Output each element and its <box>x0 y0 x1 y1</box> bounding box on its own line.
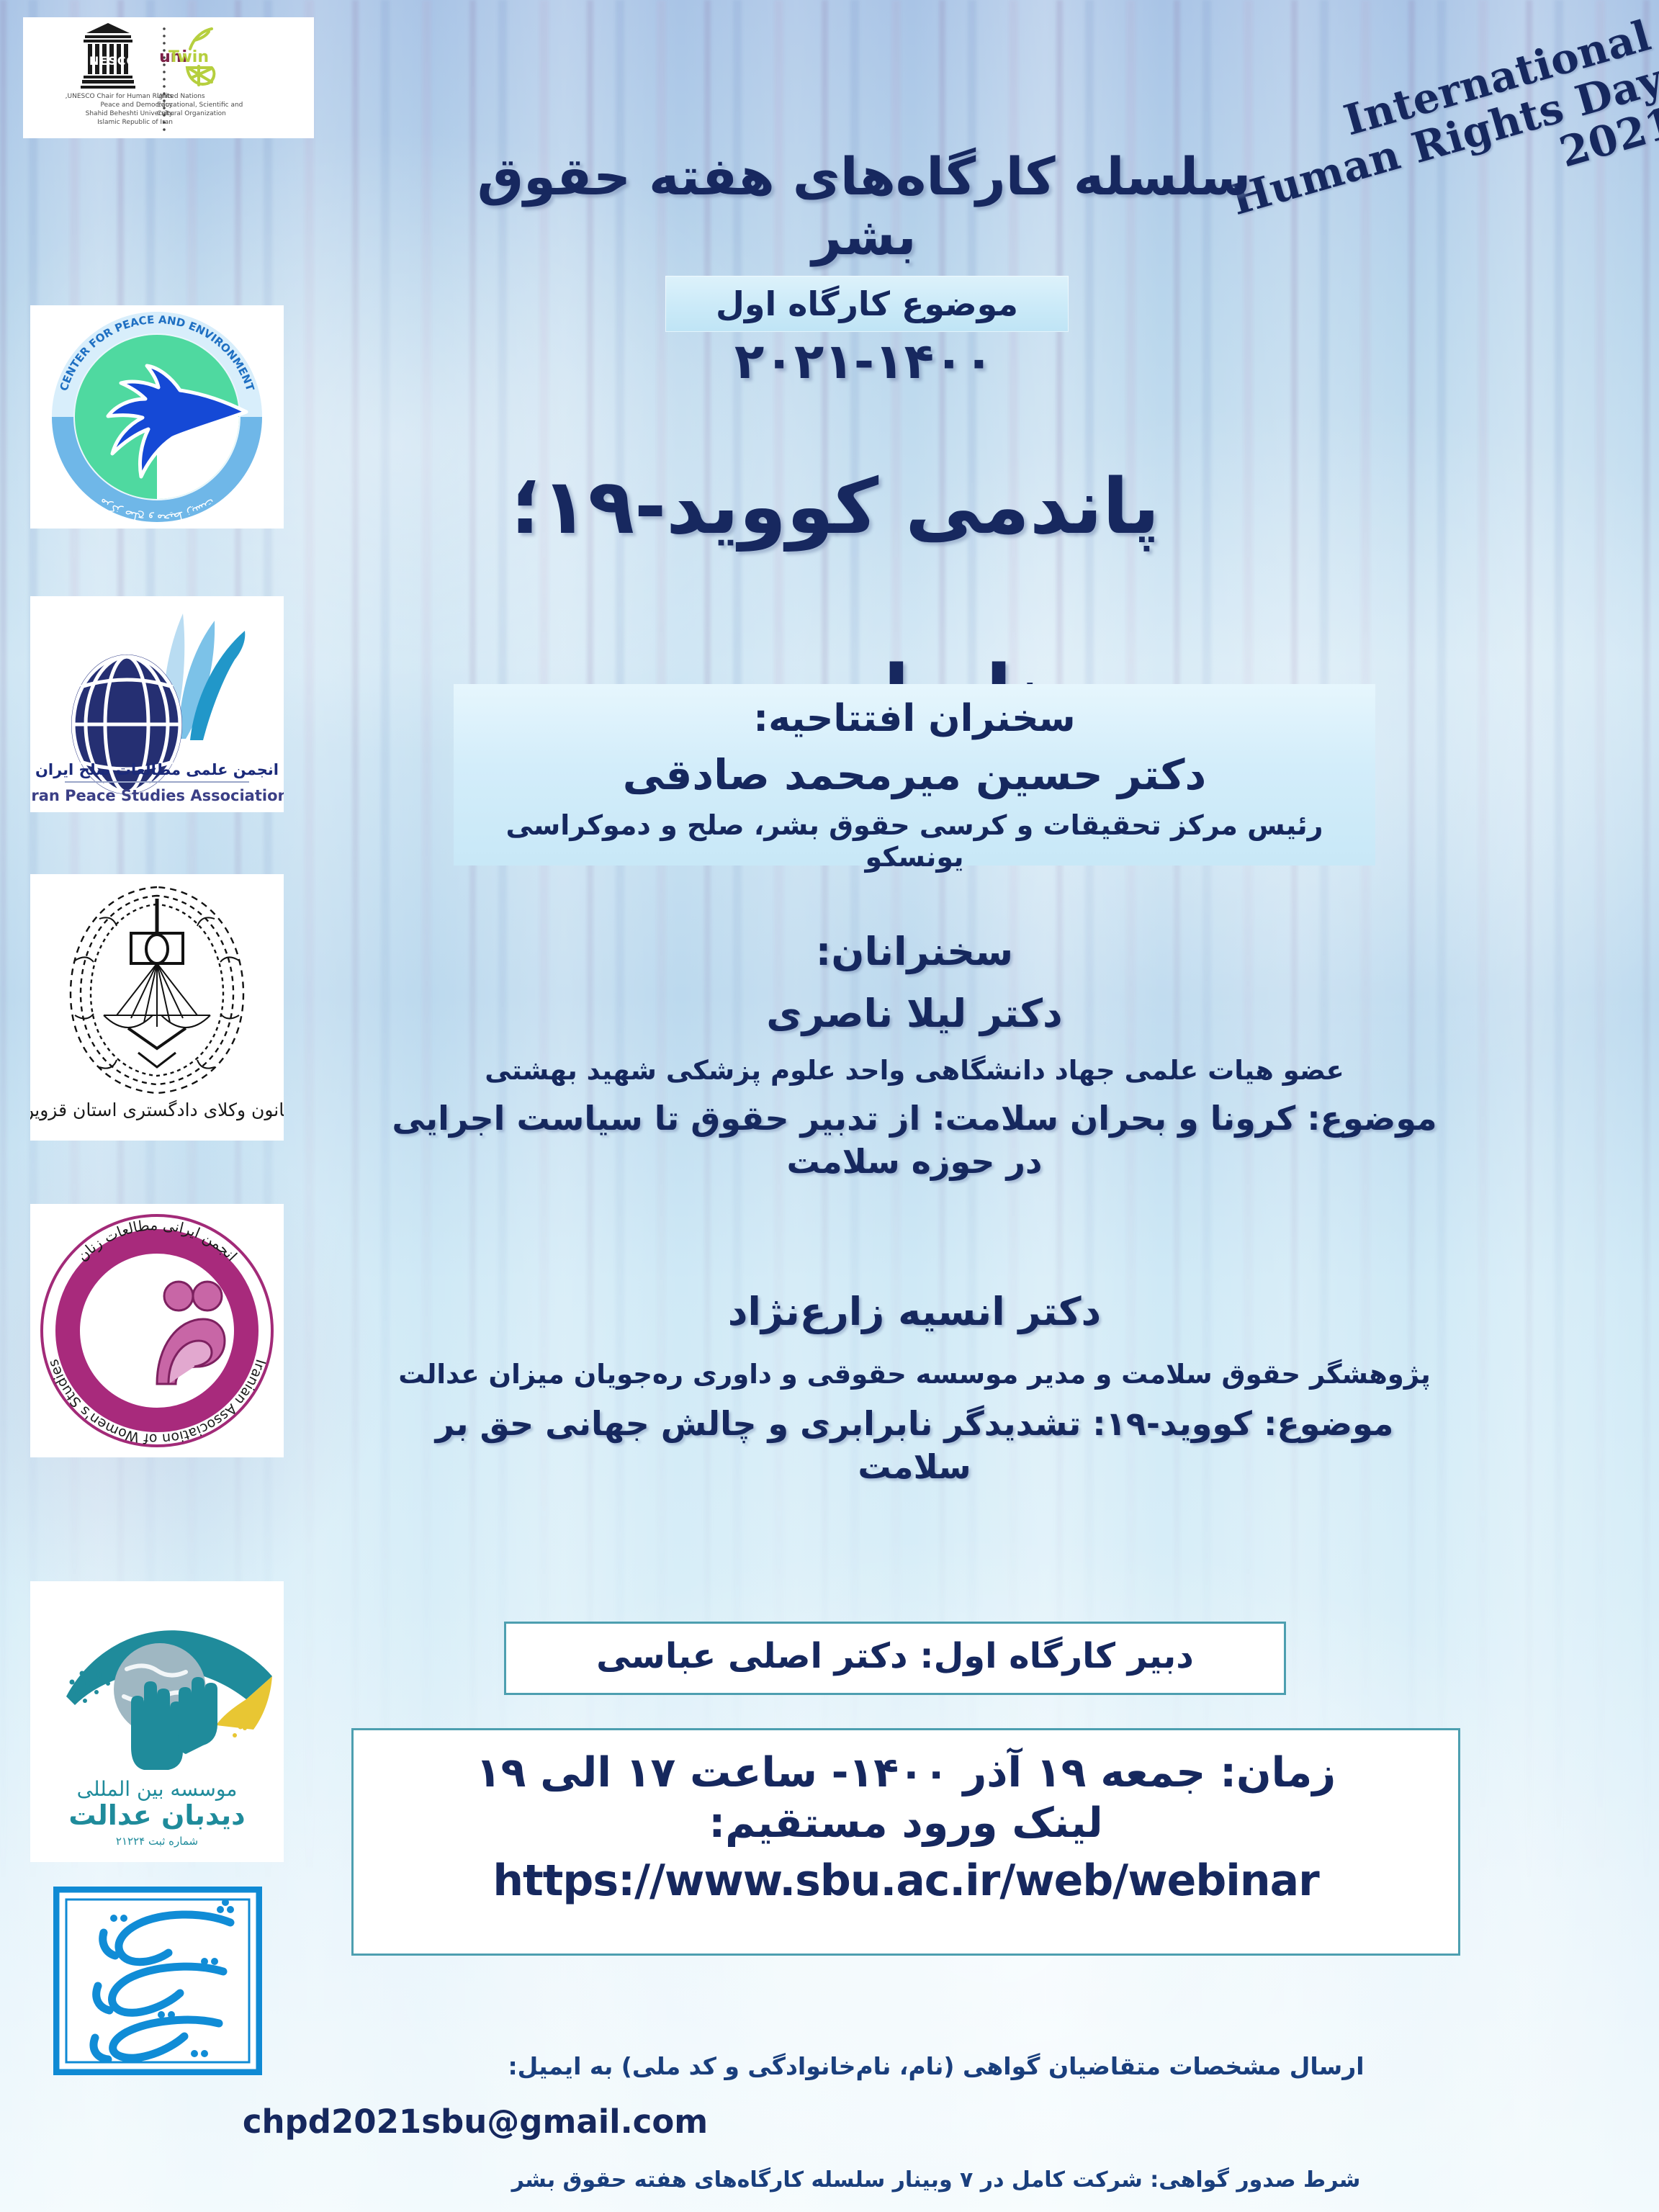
iran-peace-studies-association-icon: انجمن علمی مطالعات صلح ایران Iran Peace … <box>30 596 284 812</box>
logo-qazvin-bar-association: کانون وکلای دادگستری استان قزوین <box>30 874 284 1141</box>
speaker-name: دکتر لیلا ناصری <box>331 991 1498 1036</box>
logo-iran-peace-studies: انجمن علمی مطالعات صلح ایران Iran Peace … <box>30 596 284 812</box>
speaker-topic-line2: سلامت <box>331 1447 1498 1486</box>
opening-speaker-affiliation: رئیس مرکز تحقیقات و کرسی حقوق بشر، صلح و… <box>454 809 1375 873</box>
opening-speaker-label: سخنران افتتاحیه: <box>454 697 1375 740</box>
certificate-request-note: ارسال مشخصات متقاضیان گواهی (نام، نام‌خا… <box>302 2052 1570 2080</box>
contact-email[interactable]: chpd2021sbu@gmail.com <box>216 2103 734 2141</box>
speakers-label: سخنرانان: <box>454 929 1375 974</box>
svg-text:Peace and Democracy: Peace and Democracy <box>101 102 174 109</box>
svg-text:UNESCO: UNESCO <box>79 54 137 68</box>
logo-justice-watch: موسسه بین المللی دیدبان عدالت شماره ثبت … <box>30 1581 284 1862</box>
svg-text:UNESCO Chair for Human Rights,: UNESCO Chair for Human Rights, <box>66 93 174 100</box>
speaker-topic-line1: موضوع: کووید-۱۹: تشدیدگر نابرابری و چالش… <box>331 1404 1498 1443</box>
speaker-entry: دکتر انسیه زارع‌نژاد پژوهشگر حقوق سلامت … <box>331 1289 1498 1486</box>
svg-text:موسسه بین المللی: موسسه بین المللی <box>77 1777 238 1801</box>
svg-text:Twin: Twin <box>168 48 209 66</box>
series-title-text: سلسله کارگاه‌های هفته حقوق بشر <box>446 147 1282 267</box>
logo-shahid-beheshti-university <box>53 1887 262 2075</box>
svg-text:Shahid Beheshti University: Shahid Beheshti University <box>86 110 174 117</box>
shahid-beheshti-university-icon <box>53 1887 262 2075</box>
qazvin-bar-association-icon: کانون وکلای دادگستری استان قزوین <box>30 874 284 1141</box>
svg-text:کانون وکلای دادگستری استان قزو: کانون وکلای دادگستری استان قزوین <box>30 1100 284 1121</box>
opening-speaker-box: سخنران افتتاحیه: دکتر حسین میرمحمد صادقی… <box>454 684 1375 866</box>
logo-unesco-unitwin: UNESCO uni Twin United Nations Educ <box>23 17 314 138</box>
speaker-affiliation: پژوهشگر حقوق سلامت و مدیر موسسه حقوقی و … <box>331 1359 1498 1390</box>
svg-text:انجمن علمی مطالعات صلح ایران: انجمن علمی مطالعات صلح ایران <box>35 761 279 778</box>
svg-text:دیدبان عدالت: دیدبان عدالت <box>68 1799 245 1831</box>
speaker-entry: دکتر لیلا ناصری عضو هیات علمی جهاد دانشگ… <box>331 991 1498 1181</box>
center-for-peace-and-environment-icon: CENTER FOR PEACE AND ENVIRONMENT مرکز صل… <box>30 305 284 529</box>
workshop-secretary-text: دبیر کارگاه اول: دکتر اصلی عباسی <box>506 1624 1284 1689</box>
workshop-secretary-box: دبیر کارگاه اول: دکتر اصلی عباسی <box>504 1622 1286 1695</box>
iranian-association-of-womens-studies-icon: انجمن ایرانی مطالعات زنان Iranian Associ… <box>30 1204 284 1457</box>
logo-iranian-women-studies: انجمن ایرانی مطالعات زنان Iranian Associ… <box>30 1204 284 1457</box>
international-justice-watch-institute-icon: موسسه بین المللی دیدبان عدالت شماره ثبت … <box>30 1581 284 1862</box>
poster-content: UNESCO uni Twin United Nations Educ <box>0 0 1659 2212</box>
speaker-topic-line2: در حوزه سلامت <box>331 1142 1498 1181</box>
workshop-badge: موضوع کارگاه اول <box>665 276 1069 332</box>
logo-center-peace-environment: CENTER FOR PEACE AND ENVIRONMENT مرکز صل… <box>30 305 284 529</box>
speaker-name: دکتر انسیه زارع‌نژاد <box>331 1289 1498 1334</box>
event-time: زمان: جمعه ۱۹ آذر ۱۴۰۰- ساعت ۱۷ الی ۱۹ <box>354 1749 1458 1797</box>
speaker-affiliation: عضو هیات علمی جهاد دانشگاهی واحد علوم پز… <box>331 1055 1498 1086</box>
svg-text:Islamic Republic of Iran: Islamic Republic of Iran <box>97 119 173 126</box>
opening-speaker-name: دکتر حسین میرمحمد صادقی <box>454 750 1375 799</box>
page-title-line1: پاندمی کووید-۱۹؛ <box>374 460 1296 553</box>
svg-text:Iran Peace Studies Association: Iran Peace Studies Association <box>30 787 284 804</box>
unesco-unitwin-icon: UNESCO uni Twin United Nations Educ <box>23 17 314 138</box>
svg-text:شماره ثبت ۲۱۲۲۴: شماره ثبت ۲۱۲۲۴ <box>116 1835 198 1848</box>
certificate-condition-note: شرط صدور گواهی: شرکت کامل در ۷ وبینار سل… <box>302 2167 1570 2193</box>
webinar-link-url[interactable]: https://www.sbu.ac.ir/web/webinar <box>354 1856 1458 1906</box>
workshop-badge-label: موضوع کارگاه اول <box>665 276 1069 332</box>
speaker-topic-line1: موضوع: کرونا و بحران سلامت: از تدبیر حقو… <box>331 1099 1498 1138</box>
webinar-link-label: لینک ورود مستقیم: <box>354 1799 1458 1847</box>
logistics-box: زمان: جمعه ۱۹ آذر ۱۴۰۰- ساعت ۱۷ الی ۱۹ ل… <box>351 1728 1460 1956</box>
